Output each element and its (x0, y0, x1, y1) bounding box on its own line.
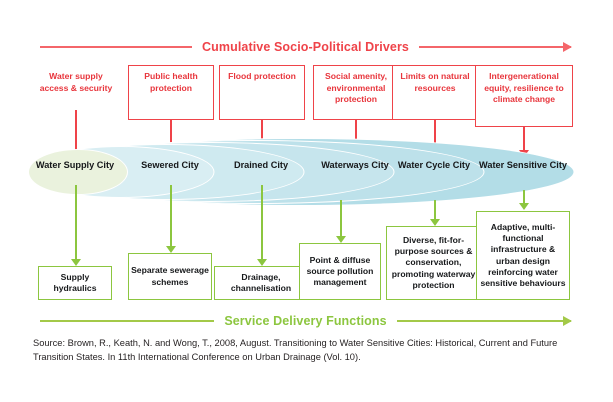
function-arrow-stem (340, 200, 342, 238)
function-box-diverse-fit-for-purpose: Diverse, fit-for-purpose sources & conse… (386, 226, 481, 300)
driver-label: Flood protection (228, 71, 296, 81)
function-box-pollution-management: Point & diffuse source pollution managem… (299, 243, 381, 300)
city-label-water-cycle: Water Cycle City (390, 160, 478, 172)
function-arrow-stem (170, 185, 172, 248)
city-label-water-sensitive: Water Sensitive City (474, 160, 572, 172)
city-label-text: Water Supply City (36, 160, 114, 170)
function-arrow-head-icon (71, 259, 81, 266)
ellipse-layer-1 (28, 149, 128, 195)
function-label: Adaptive, multi-functional infrastructur… (479, 222, 567, 289)
function-box-adaptive-infrastructure: Adaptive, multi-functional infrastructur… (476, 211, 570, 300)
function-label: Diverse, fit-for-purpose sources & conse… (389, 235, 478, 291)
service-delivery-banner: Service Delivery Functions (0, 310, 613, 332)
function-arrow-head-icon (166, 246, 176, 253)
function-box-supply-hydraulics: Supply hydraulics (38, 266, 112, 300)
banner-line-left (40, 46, 192, 48)
arrow-right-icon (563, 316, 572, 326)
function-box-drainage-channelisation: Drainage, channelisation (214, 266, 308, 300)
function-box-separate-sewerage: Separate sewerage schemes (128, 253, 212, 300)
driver-label: Social amenity, environmental protection (325, 71, 387, 104)
function-label: Drainage, channelisation (217, 272, 305, 294)
top-banner-title: Cumulative Socio-Political Drivers (192, 40, 419, 54)
driver-label: Limits on natural resources (400, 71, 469, 93)
driver-box-water-supply: Water supply access & security (32, 66, 120, 98)
driver-box-flood-protection: Flood protection (219, 65, 305, 120)
source-citation: Source: Brown, R., Keath, N. and Wong, T… (33, 336, 589, 364)
function-label: Separate sewerage schemes (131, 265, 209, 287)
function-arrow-stem (261, 185, 263, 261)
city-label-text: Drained City (234, 160, 288, 170)
transition-states-ellipses (28, 137, 573, 207)
cumulative-drivers-banner: Cumulative Socio-Political Drivers (0, 36, 613, 58)
arrow-right-icon (563, 42, 572, 52)
function-arrow-stem (434, 200, 436, 221)
function-arrow-head-icon (519, 203, 529, 210)
city-label-text: Water Sensitive City (479, 160, 567, 170)
driver-box-intergenerational-equity: Intergenerational equity, resilience to … (475, 65, 573, 127)
function-arrow-head-icon (257, 259, 267, 266)
city-label-text: Waterways City (321, 160, 389, 170)
transition-states-diagram: Cumulative Socio-Political Drivers Water… (0, 0, 613, 402)
driver-box-social-amenity: Social amenity, environmental protection (313, 65, 399, 120)
city-label-text: Water Cycle City (398, 160, 470, 170)
city-label-drained: Drained City (219, 160, 303, 172)
function-arrow-head-icon (430, 219, 440, 226)
function-label: Supply hydraulics (41, 272, 109, 294)
function-label: Point & diffuse source pollution managem… (302, 255, 378, 289)
driver-label: Water supply access & security (40, 71, 113, 93)
bottom-banner-title: Service Delivery Functions (214, 314, 396, 328)
driver-box-public-health: Public health protection (128, 65, 214, 120)
city-label-waterways: Waterways City (311, 160, 399, 172)
banner-line-right (397, 320, 571, 322)
city-label-sewered: Sewered City (128, 160, 212, 172)
banner-line-left (40, 320, 214, 322)
city-label-text: Sewered City (141, 160, 199, 170)
city-label-water-supply: Water Supply City (33, 160, 117, 172)
function-arrow-stem (75, 185, 77, 261)
driver-label: Public health protection (144, 71, 197, 93)
driver-label: Intergenerational equity, resilience to … (484, 71, 564, 104)
function-arrow-head-icon (336, 236, 346, 243)
banner-line-right (419, 46, 571, 48)
driver-box-limits-natural-resources: Limits on natural resources (392, 65, 478, 120)
